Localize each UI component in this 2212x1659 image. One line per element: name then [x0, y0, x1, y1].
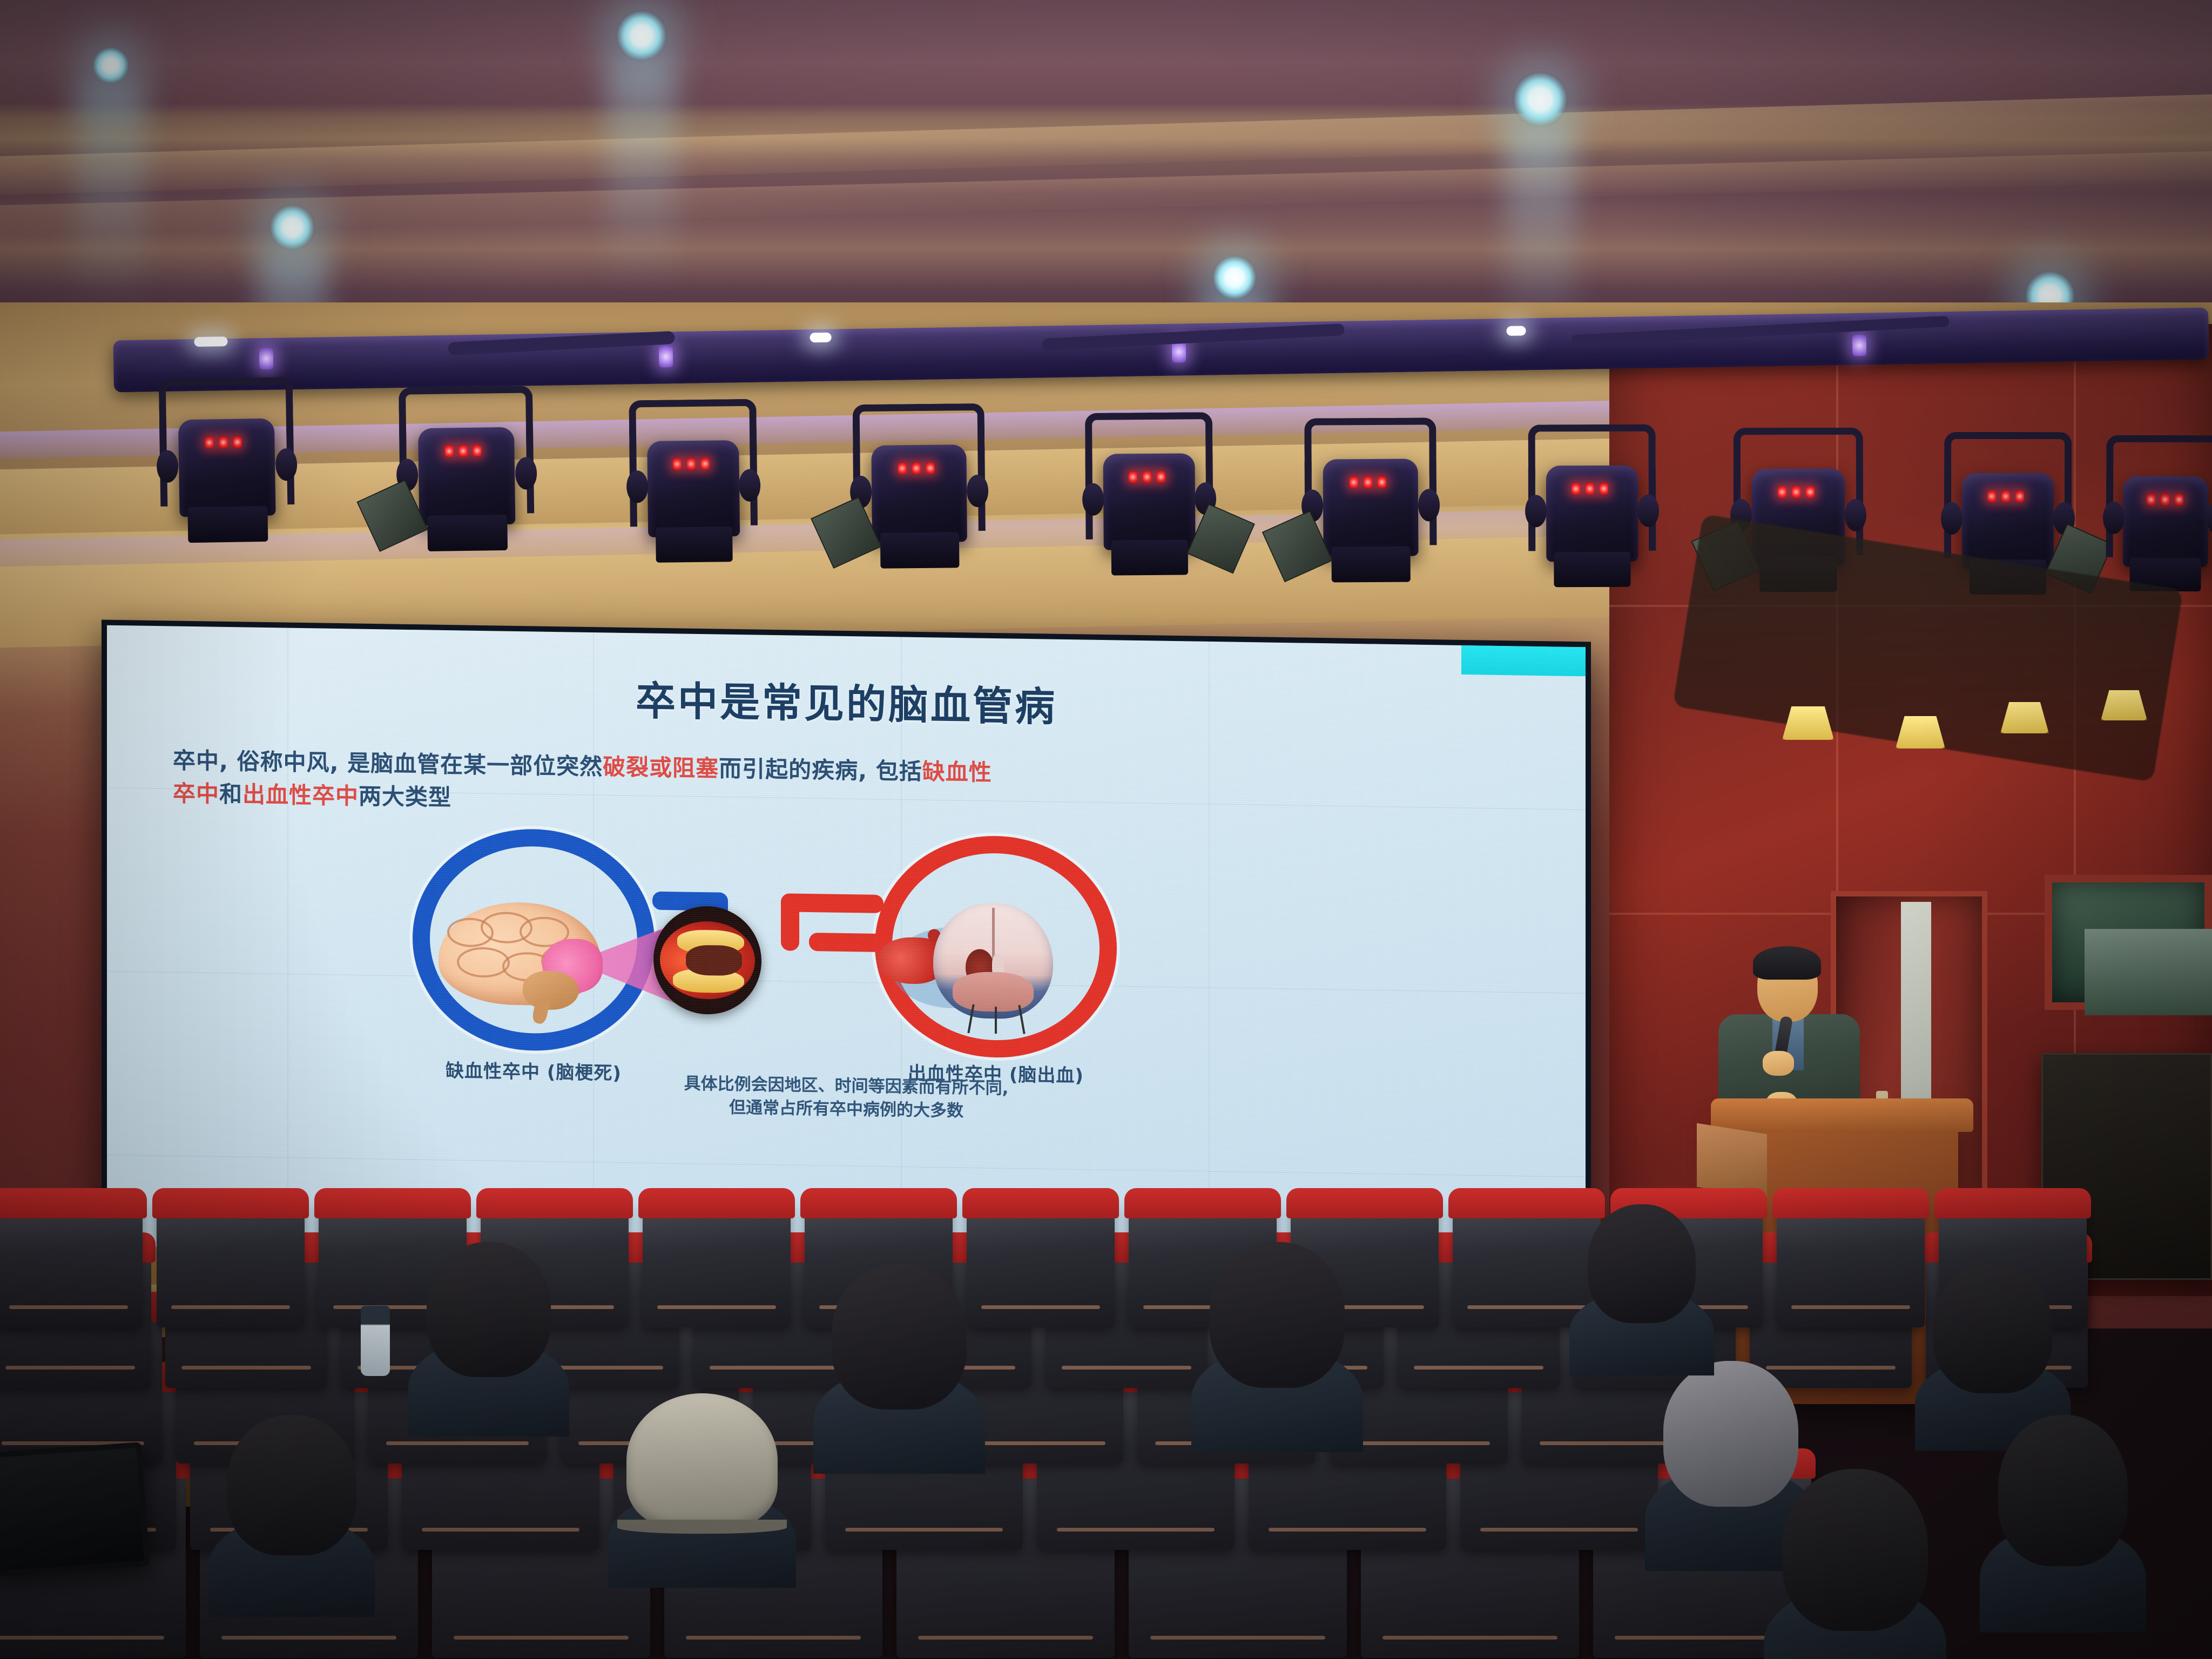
stage-light-fixture [159, 377, 295, 541]
seat-headrest [476, 1188, 633, 1218]
downlight-beam [606, 62, 677, 288]
audience-member-head [1933, 1264, 2052, 1393]
fixture-status-led [1572, 483, 1580, 495]
seat-trim [1467, 1305, 1586, 1309]
truss-indicator-led [259, 348, 274, 369]
vessel-crosssection-zoom [653, 906, 761, 1015]
seat-headrest [152, 1188, 309, 1218]
seat-trim [1791, 1305, 1910, 1309]
seat-headrest [1934, 1188, 2091, 1218]
seat-trim [981, 1305, 1100, 1309]
auditorium-photo: 卒中是常见的脑血管病 卒中, 俗称中风, 是脑血管在某一部位突然破裂或阻塞而引起… [0, 0, 2212, 1659]
fixture-lens [187, 506, 268, 543]
basal-structures [953, 972, 1034, 1012]
podium-side-ledge [1697, 1123, 1767, 1198]
fixture-housing [1103, 453, 1196, 550]
fixture-tilt-knob [1525, 495, 1547, 527]
fixture-tilt-knob [515, 457, 537, 490]
ceiling-downlight [269, 204, 315, 251]
seat-trim [1269, 1528, 1427, 1532]
slide-footnote: 具体比例会因地区、时间等因素而有所不同, 但通常占所有卒中病例的大多数 [107, 1064, 1586, 1132]
fixture-lens [1331, 547, 1411, 583]
audience-member-head [1588, 1204, 1696, 1323]
fixture-lens [1554, 552, 1630, 588]
water-bottle [361, 1306, 390, 1376]
stage-light-fixture [2106, 435, 2212, 587]
seat-trim [1480, 1528, 1638, 1532]
fixture-lens [656, 527, 732, 563]
audience-member-head [1998, 1415, 2128, 1566]
presenter-hair [1753, 946, 1821, 980]
body-text: 卒中, 俗称中风, 是脑血管在某一部位突然 [173, 747, 603, 780]
fixture-tilt-knob [1418, 489, 1440, 521]
fixture-tilt-knob [1082, 483, 1104, 516]
fixture-status-led [1586, 483, 1594, 495]
audience-seat[interactable] [157, 1198, 305, 1327]
seat-trim [0, 1636, 164, 1640]
fixture-status-led [673, 458, 682, 470]
seat-headrest [314, 1188, 471, 1218]
fixture-tilt-knob [967, 475, 989, 507]
ceiling-downlight [616, 10, 667, 62]
seat-trim [1347, 1441, 1490, 1445]
fixture-lens [880, 532, 960, 568]
ceiling-downlight [1212, 255, 1257, 300]
truss-indicator-led [1172, 341, 1186, 362]
fixture-status-led [687, 458, 696, 470]
seat-headrest [800, 1188, 957, 1218]
highlight-ischemic: 缺血性 [922, 758, 992, 786]
truss-highlight [194, 336, 227, 347]
fixture-status-led [1806, 486, 1815, 498]
seat-trim [710, 1366, 839, 1370]
fixture-housing [2122, 476, 2208, 567]
truss-cable [448, 331, 675, 355]
highlight-stroke: 卒中 [173, 780, 219, 807]
seat-headrest [1448, 1188, 1605, 1218]
fixture-status-led [2161, 494, 2169, 505]
body-text: 和 [219, 781, 242, 808]
audience-member-head [832, 1264, 967, 1410]
seat-trim [1766, 1366, 1896, 1370]
fixture-lens [427, 515, 508, 551]
fixture-status-led [1364, 476, 1372, 488]
seat-trim [5, 1366, 135, 1370]
longitudinal-fissure [992, 908, 995, 961]
stage-light-fixture [1085, 412, 1213, 573]
fixture-housing [1323, 459, 1419, 557]
truss-cable [1572, 316, 1950, 346]
seat-trim [845, 1528, 1003, 1532]
audience-seat[interactable] [0, 1198, 143, 1327]
seat-headrest [638, 1188, 795, 1218]
fixture-tilt-knob [275, 448, 298, 481]
seat-headrest [0, 1188, 147, 1218]
ceiling-downlight [92, 46, 130, 84]
fixture-status-led [926, 462, 935, 474]
connector-red [809, 933, 885, 952]
audience-member-head [1210, 1242, 1345, 1388]
fixture-status-led [1129, 471, 1137, 483]
audience-member-head [427, 1242, 551, 1377]
seat-trim [171, 1305, 289, 1309]
seat-trim [1150, 1636, 1325, 1640]
seat-trim [386, 1441, 529, 1445]
audience-member-head [1663, 1361, 1798, 1507]
fixture-status-led [219, 436, 228, 448]
audience-seat[interactable] [643, 1198, 791, 1327]
seat-headrest [1286, 1188, 1443, 1218]
seat-headrest [1772, 1188, 1929, 1218]
window-interior [2085, 929, 2212, 1015]
fixture-housing [871, 444, 967, 543]
seat-trim [454, 1636, 628, 1640]
body-text: 而引起的疾病, 包括 [719, 756, 922, 785]
cap-brim [617, 1520, 787, 1534]
body-text: 两大类型 [359, 783, 451, 811]
highlight-rupture-block: 破裂或阻塞 [603, 753, 719, 781]
fixture-tilt-knob [1941, 502, 1963, 535]
seat-trim [1062, 1366, 1191, 1370]
fixture-tilt-knob [157, 450, 179, 483]
podium-top-surface [1711, 1098, 1973, 1132]
audience-member-cap [626, 1393, 778, 1528]
fixture-status-led [2001, 490, 2010, 502]
fixture-tilt-knob [1845, 499, 1866, 531]
fixture-status-led [1378, 476, 1386, 488]
cerebellum [523, 970, 579, 1010]
stroke-type-diagram: 缺血性卒中 (脑梗死) 出血性卒中 (脑出血) [107, 820, 1586, 1074]
truss-indicator-led [1852, 334, 1867, 356]
fixture-tilt-knob [1637, 495, 1659, 527]
seat-trim [221, 1636, 396, 1640]
fixture-status-led [1792, 486, 1800, 498]
downlight-beam [76, 84, 146, 311]
truss-highlight [1506, 326, 1526, 336]
fixture-tilt-knob [626, 470, 649, 503]
seat-headrest [962, 1188, 1119, 1218]
audience-seat[interactable] [967, 1198, 1115, 1327]
seat-trim [1382, 1636, 1557, 1640]
vessel-branch [995, 1007, 997, 1034]
highlight-hemorrhagic-stroke: 出血性卒中 [242, 781, 359, 810]
fixture-status-led [1778, 486, 1786, 498]
control-room-window [2045, 875, 2212, 1010]
fixture-tilt-knob [2103, 502, 2125, 534]
seat-trim [9, 1305, 127, 1309]
fixture-status-led [898, 462, 907, 474]
fixture-status-led [205, 436, 214, 448]
stage-light-fixture [1304, 417, 1437, 580]
fixture-status-led [233, 436, 242, 448]
stage-light-fixture [1528, 424, 1656, 585]
seat-trim [1615, 1636, 1789, 1640]
seat-trim [422, 1528, 580, 1532]
fixture-status-led [1600, 483, 1608, 495]
stage-light-fixture [629, 399, 758, 561]
fixture-status-led [912, 462, 921, 474]
stage-confidence-monitor [0, 1442, 150, 1577]
seat-headrest [1124, 1188, 1281, 1218]
audience-seat[interactable] [1453, 1198, 1601, 1327]
brain-coronal-illustration [933, 902, 1053, 1019]
truss-cable [1042, 323, 1344, 350]
fixture-status-led [2015, 490, 2024, 502]
fixture-status-led [701, 458, 710, 470]
presenter-hand [1763, 1051, 1794, 1076]
slide-title: 卒中是常见的脑血管病 [107, 661, 1586, 741]
fixture-status-led [459, 445, 468, 457]
truss-highlight [810, 333, 831, 343]
fixture-status-led [1350, 476, 1358, 488]
audience-member-head [227, 1415, 356, 1555]
truss-indicator-led [659, 346, 673, 367]
seat-trim [1057, 1528, 1215, 1532]
slide-body-text: 卒中, 俗称中风, 是脑血管在某一部位突然破裂或阻塞而引起的疾病, 包括缺血性 … [173, 744, 1537, 830]
fixture-housing [178, 419, 276, 517]
audience-seat[interactable] [1777, 1198, 1925, 1327]
fixture-status-led [445, 445, 454, 457]
fixture-housing [418, 427, 516, 525]
seat-trim [686, 1636, 860, 1640]
fixture-status-led [2175, 494, 2183, 505]
fixture-lens [1111, 539, 1188, 575]
slide-accent-tab [1461, 645, 1586, 676]
fixture-status-led [1157, 471, 1165, 483]
audience-member-head [1782, 1469, 1928, 1631]
occluded-lumen [686, 945, 742, 976]
connector-red [781, 893, 799, 951]
fixture-status-led [2147, 494, 2155, 505]
seat-trim [1414, 1366, 1543, 1370]
seat-trim [181, 1366, 311, 1370]
fixture-housing [647, 440, 740, 537]
ceiling [0, 0, 2212, 346]
seat-trim [1540, 1441, 1682, 1445]
seat-trim [657, 1305, 775, 1309]
fixture-housing [1962, 473, 2054, 569]
seat-trim [918, 1636, 1092, 1640]
fixture-status-led [473, 445, 482, 457]
ceiling-downlight [1512, 71, 1568, 127]
fixture-housing [1546, 466, 1638, 562]
stage-light-fixture [399, 386, 535, 549]
stage-light-fixture [853, 403, 986, 567]
fixture-status-led [1987, 490, 1996, 502]
fixture-status-led [1143, 471, 1151, 483]
